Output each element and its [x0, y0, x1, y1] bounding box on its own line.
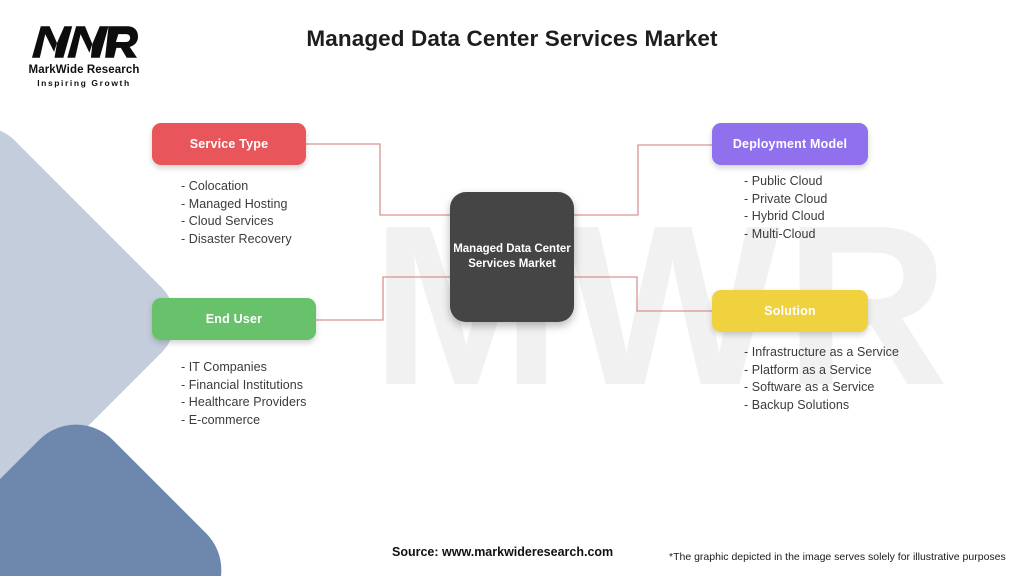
branch-node-deployment-model[interactable]: Deployment Model	[712, 123, 868, 165]
list-item: - Public Cloud	[744, 173, 827, 191]
list-item: - Cloud Services	[181, 213, 292, 231]
branch-label-solution: Solution	[764, 304, 816, 318]
list-item: - Colocation	[181, 178, 292, 196]
center-node-label: Managed Data Center Services Market	[450, 242, 574, 273]
item-list-deployment-model: - Public Cloud - Private Cloud - Hybrid …	[744, 173, 827, 243]
branch-node-end-user[interactable]: End User	[152, 298, 316, 340]
list-item: - Disaster Recovery	[181, 231, 292, 249]
list-item: - E-commerce	[181, 412, 306, 430]
connector-solution	[574, 277, 712, 311]
list-item: - Hybrid Cloud	[744, 208, 827, 226]
branch-label-deployment-model: Deployment Model	[733, 137, 847, 151]
list-item: - Healthcare Providers	[181, 394, 306, 412]
disclaimer-text: *The graphic depicted in the image serve…	[669, 551, 1006, 563]
item-list-solution: - Infrastructure as a Service - Platform…	[744, 344, 899, 414]
list-item: - Backup Solutions	[744, 397, 899, 415]
branch-label-service-type: Service Type	[190, 137, 269, 151]
item-list-end-user: - IT Companies - Financial Institutions …	[181, 359, 306, 429]
list-item: - Platform as a Service	[744, 362, 899, 380]
list-item: - Financial Institutions	[181, 377, 306, 395]
list-item: - Private Cloud	[744, 191, 827, 209]
branch-label-end-user: End User	[206, 312, 262, 326]
connector-end-user	[316, 277, 450, 320]
list-item: - Managed Hosting	[181, 196, 292, 214]
center-node[interactable]: Managed Data Center Services Market	[450, 192, 574, 322]
list-item: - Infrastructure as a Service	[744, 344, 899, 362]
connector-deployment-model	[574, 145, 712, 215]
branch-node-service-type[interactable]: Service Type	[152, 123, 306, 165]
branch-node-solution[interactable]: Solution	[712, 290, 868, 332]
list-item: - Multi-Cloud	[744, 226, 827, 244]
source-label: Source: www.markwideresearch.com	[392, 545, 613, 559]
item-list-service-type: - Colocation - Managed Hosting - Cloud S…	[181, 178, 292, 248]
connector-service-type	[306, 144, 450, 215]
list-item: - IT Companies	[181, 359, 306, 377]
infographic-canvas: MWR MarkWide Research Inspiring Growth M…	[0, 0, 1024, 576]
list-item: - Software as a Service	[744, 379, 899, 397]
